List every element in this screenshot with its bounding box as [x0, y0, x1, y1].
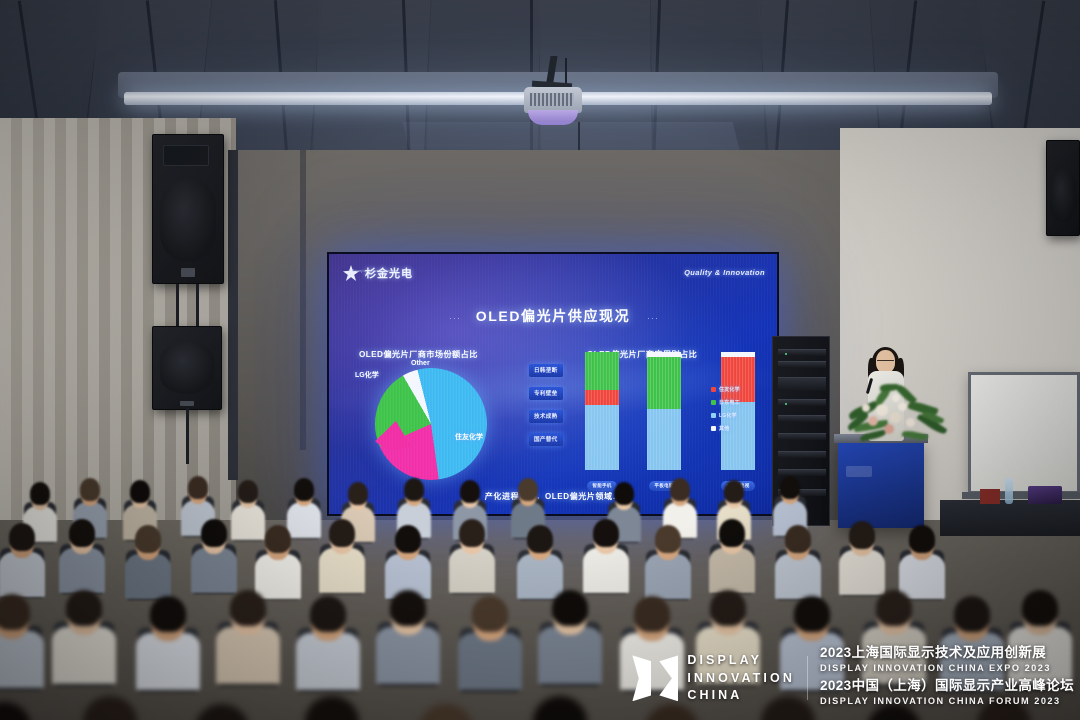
audience-member — [906, 521, 938, 593]
audience-member — [528, 689, 592, 720]
audience-hair — [724, 480, 744, 503]
audience-hair — [135, 525, 162, 554]
audience-torso — [458, 633, 521, 690]
audience-member — [190, 697, 254, 720]
audience-hair — [719, 519, 746, 548]
audience-torso — [0, 631, 44, 688]
audience-hair — [294, 478, 314, 501]
audience-torso — [231, 504, 266, 540]
audience-member — [782, 521, 814, 593]
audience-member — [846, 517, 878, 589]
audience-member — [262, 521, 294, 593]
audience-member — [132, 521, 164, 593]
flower-bloom — [884, 424, 894, 434]
audience-hair — [0, 702, 31, 720]
audience-member — [414, 697, 478, 720]
audience-member — [146, 591, 190, 683]
audience-member — [0, 695, 36, 720]
audience-hair — [419, 704, 473, 720]
projector-lens — [528, 110, 578, 125]
flower-leaf — [860, 429, 887, 441]
event-expo-en: DISPLAY INNOVATION CHINA EXPO 2023 — [820, 662, 1074, 676]
wall-column-left — [228, 150, 238, 480]
flower-leaf — [902, 429, 929, 441]
audience-torso — [136, 633, 199, 690]
audience-hair — [1022, 590, 1059, 627]
audience-member — [716, 515, 748, 587]
audience-torso — [376, 627, 439, 684]
audience-member — [468, 591, 512, 683]
flower-bloom — [890, 412, 901, 423]
audience-hair — [150, 596, 187, 633]
event-titles: 2023上海国际显示技术及应用创新展 DISPLAY INNOVATION CH… — [820, 645, 1074, 712]
event-forum: 2023中国（上海）国际显示产业高峰论坛 DISPLAY INNOVATION … — [820, 678, 1074, 709]
audience-hair — [459, 519, 486, 548]
audience-member — [386, 585, 430, 677]
audience-hair — [780, 476, 800, 499]
audience-hair — [201, 519, 228, 548]
speaker-horn-icon — [163, 145, 209, 166]
audience-hair — [614, 482, 634, 505]
audience-member — [6, 519, 38, 591]
rack-status-led — [785, 353, 787, 355]
speaker-cone-icon-2 — [160, 342, 214, 394]
audience-hair — [66, 590, 103, 627]
audience-hair — [472, 596, 509, 633]
audience-hair — [909, 525, 936, 554]
audience-hair — [710, 590, 747, 627]
speaker-cone-icon-3 — [1050, 169, 1076, 222]
audience-hair — [794, 596, 831, 633]
audience-hair — [188, 476, 208, 499]
audience-hair — [238, 480, 258, 503]
audience-hair — [80, 478, 100, 501]
audience-hair — [0, 594, 30, 631]
audience-member — [326, 515, 358, 587]
audience-hair — [670, 478, 690, 501]
audience-member — [0, 589, 34, 681]
rack-status-led-2 — [785, 403, 787, 405]
audience-torso — [319, 548, 365, 593]
audience-hair — [593, 519, 620, 548]
flower-leaf — [880, 384, 898, 391]
loudspeaker-upper — [152, 134, 224, 284]
dic-wordmark: DISPLAY INNOVATION CHINA — [687, 652, 795, 704]
presenter-glasses-icon — [877, 360, 894, 364]
audience-member — [300, 689, 364, 720]
audience-member — [456, 515, 488, 587]
audience-hair — [395, 525, 422, 554]
loudspeaker-right — [1046, 140, 1080, 236]
audience-hair — [876, 590, 913, 627]
audience-hair — [230, 590, 267, 627]
audience-member — [652, 521, 684, 593]
flower-bloom — [876, 404, 888, 416]
event-forum-cn: 2023中国（上海）国际显示产业高峰论坛 — [820, 678, 1074, 695]
flower-bloom — [906, 418, 915, 427]
audience-hair — [30, 482, 50, 505]
audience-torso — [296, 633, 359, 690]
dic-logo: DISPLAY INNOVATION CHINA — [632, 652, 795, 704]
audience-hair — [195, 704, 249, 720]
event-expo-cn: 2023上海国际显示技术及应用创新展 — [820, 645, 1074, 662]
audience-torso — [449, 548, 495, 593]
flower-bloom — [892, 394, 900, 402]
speaker-cone-icon — [160, 179, 216, 262]
audience-hair — [527, 525, 554, 554]
speaker-mount-pole — [176, 284, 179, 328]
audience-hair — [69, 519, 96, 548]
audience-hair — [305, 696, 359, 720]
audience-hair — [348, 482, 368, 505]
watermark-divider — [807, 656, 808, 700]
conference-photo: 杉金光电 Shanjin Optoelectronics Quality & I… — [0, 0, 1080, 720]
audience-hair — [655, 525, 682, 554]
audience-hair — [849, 521, 876, 550]
audience-member — [66, 515, 98, 587]
audience-torso — [216, 627, 279, 684]
dic-monogram-icon — [632, 655, 678, 701]
speaker-mount-pole-2 — [196, 284, 199, 328]
audience-member — [198, 515, 230, 587]
audience-hair — [265, 525, 292, 554]
audience-hair — [533, 696, 587, 720]
audience-member — [524, 521, 556, 593]
dic-line-3: CHINA — [687, 687, 795, 704]
audience-torso — [52, 627, 115, 684]
wall-seam — [300, 150, 306, 450]
audience-hair — [460, 480, 480, 503]
audience-hair — [404, 478, 424, 501]
audience-hair — [518, 478, 538, 501]
event-expo: 2023上海国际显示技术及应用创新展 DISPLAY INNOVATION CH… — [820, 645, 1074, 676]
flower-arrangement — [846, 378, 938, 448]
audience-member — [292, 475, 316, 533]
audience-member — [78, 689, 142, 720]
projector-vent — [530, 93, 574, 106]
speaker-badge-2 — [180, 401, 194, 406]
event-forum-en: DISPLAY INNOVATION CHINA FORUM 2023 — [820, 695, 1074, 709]
dic-line-2: INNOVATION — [687, 670, 795, 687]
flower-bloom — [862, 404, 870, 412]
flower-bloom — [898, 402, 907, 411]
audience-torso — [538, 627, 601, 684]
audience-hair — [329, 519, 356, 548]
audience-member — [392, 521, 424, 593]
audience-member — [590, 515, 622, 587]
audience-hair — [9, 523, 36, 552]
dic-line-1: DISPLAY — [687, 652, 795, 669]
audience-hair — [83, 696, 137, 720]
audience-hair — [310, 596, 347, 633]
audience-hair — [390, 590, 427, 627]
event-watermark: DISPLAY INNOVATION CHINA 2023上海国际显示技术及应用… — [632, 645, 1074, 712]
audience-hair — [634, 596, 671, 633]
audience-member — [548, 585, 592, 677]
speaker-badge — [181, 268, 195, 277]
loudspeaker-lower — [152, 326, 222, 410]
audience-member — [62, 585, 106, 677]
flower-bloom — [868, 416, 878, 426]
audience-hair — [785, 525, 812, 554]
audience-member — [226, 585, 270, 677]
audience-member — [236, 477, 260, 535]
audience-hair — [954, 596, 991, 633]
audience-member — [306, 591, 350, 683]
audience-hair — [130, 480, 150, 503]
audience-hair — [552, 590, 589, 627]
